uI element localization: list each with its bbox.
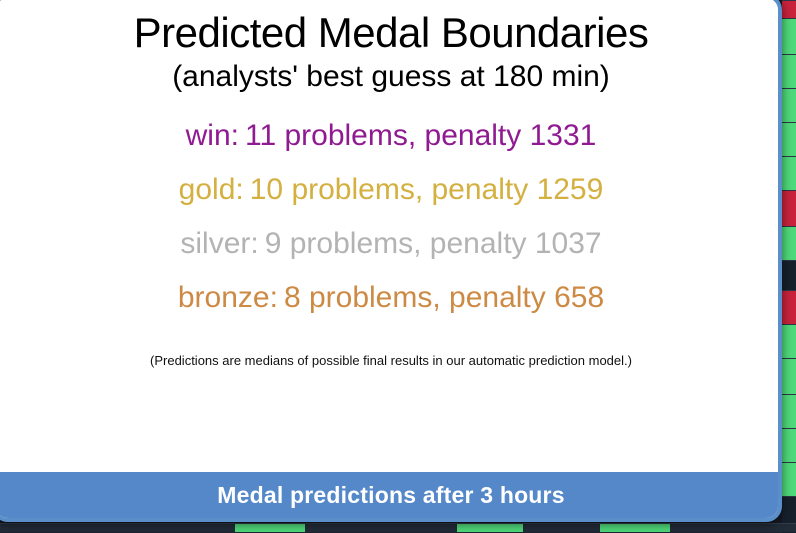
scoreboard-cell xyxy=(782,0,796,19)
dialog-footer-label: Medal predictions after 3 hours xyxy=(0,472,778,518)
scoreboard-cell xyxy=(782,156,796,191)
scoreboard-cell xyxy=(782,462,796,497)
scoreboard-cell xyxy=(782,394,796,429)
boundary-text-silver: 9 problems, penalty 1037 xyxy=(265,227,602,260)
scoreboard-cell xyxy=(782,290,796,325)
scoreboard-cell xyxy=(782,54,796,89)
boundary-row-silver: silver:9 problems, penalty 1037 xyxy=(14,226,768,262)
boundary-row-gold: gold:10 problems, penalty 1259 xyxy=(14,172,768,208)
scoreboard-cell xyxy=(782,18,796,55)
medal-boundaries-list: win:11 problems, penalty 1331 gold:10 pr… xyxy=(6,118,768,334)
prediction-footnote: (Predictions are medians of possible fin… xyxy=(142,352,632,370)
title-block: Predicted Medal Boundaries (analysts' be… xyxy=(126,8,649,96)
scoreboard-right-column xyxy=(782,0,796,532)
scoreboard-cell xyxy=(782,190,796,227)
page-subtitle: (analysts' best guess at 180 min) xyxy=(134,58,649,96)
scoreboard-bottom-cell xyxy=(600,524,670,532)
boundary-label-silver: silver: xyxy=(180,227,258,260)
scoreboard-bottom-cell xyxy=(235,524,305,532)
scoreboard-bottom-cell xyxy=(457,524,523,532)
boundary-text-gold: 10 problems, penalty 1259 xyxy=(250,173,604,206)
scoreboard-cell xyxy=(782,226,796,261)
boundary-text-bronze: 8 problems, penalty 658 xyxy=(284,281,604,314)
dialog-body: Predicted Medal Boundaries (analysts' be… xyxy=(0,0,778,472)
scoreboard-bottom-strip xyxy=(0,523,796,532)
boundary-row-win: win:11 problems, penalty 1331 xyxy=(14,118,768,154)
boundary-label-gold: gold: xyxy=(179,173,244,206)
scoreboard-cell xyxy=(782,358,796,395)
prediction-dialog: Predicted Medal Boundaries (analysts' be… xyxy=(0,0,782,522)
boundary-label-win: win: xyxy=(186,119,239,152)
scoreboard-cell xyxy=(782,428,796,463)
page-title: Predicted Medal Boundaries xyxy=(134,8,649,58)
boundary-text-win: 11 problems, penalty 1331 xyxy=(245,119,596,152)
scoreboard-cell xyxy=(782,260,796,291)
scoreboard-cell xyxy=(782,88,796,123)
scoreboard-cell xyxy=(782,324,796,359)
boundary-row-bronze: bronze:8 problems, penalty 658 xyxy=(14,280,768,316)
scoreboard-cell xyxy=(782,122,796,157)
boundary-label-bronze: bronze: xyxy=(178,281,278,314)
